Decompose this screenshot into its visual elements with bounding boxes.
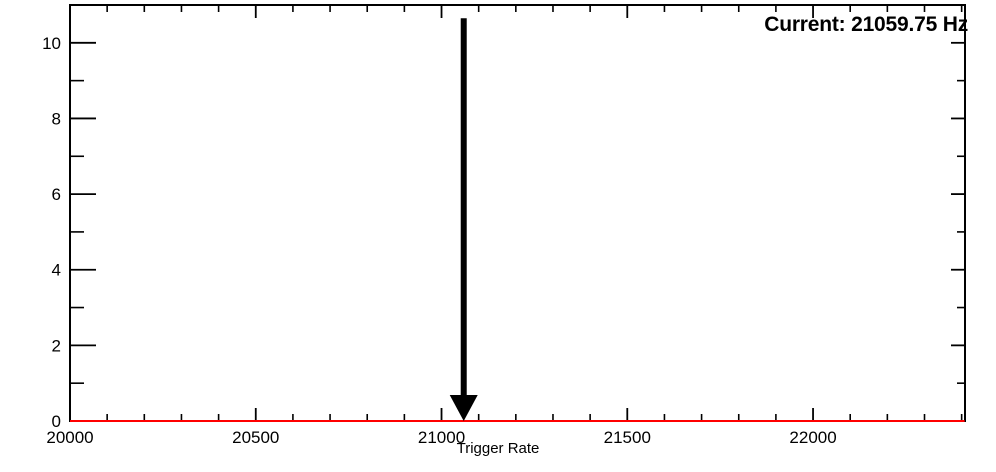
y-tick-label: 6 [52,185,61,204]
y-axis-major-ticks [70,43,965,421]
y-tick-label: 10 [42,34,61,53]
y-axis-tick-labels: 0246810 [42,34,61,431]
plot-frame [70,5,965,421]
x-axis-title: Trigger Rate [0,440,996,457]
frame-rectangle [70,5,965,421]
current-rate-arrow [450,18,478,421]
root-canvas: 2000020500210002150022000 0246810 Curren… [0,0,996,472]
y-tick-label: 0 [52,412,61,431]
y-axis-minor-ticks [70,5,965,383]
y-tick-label: 2 [52,336,61,355]
y-tick-label: 8 [52,109,61,128]
histogram-plot: 2000020500210002150022000 0246810 [0,0,996,472]
current-rate-arrow-head [450,395,478,421]
x-axis-minor-ticks [107,5,962,421]
current-rate-readout: Current: 21059.75 Hz [764,13,968,37]
y-tick-label: 4 [52,261,61,280]
x-axis-major-ticks [70,5,813,421]
